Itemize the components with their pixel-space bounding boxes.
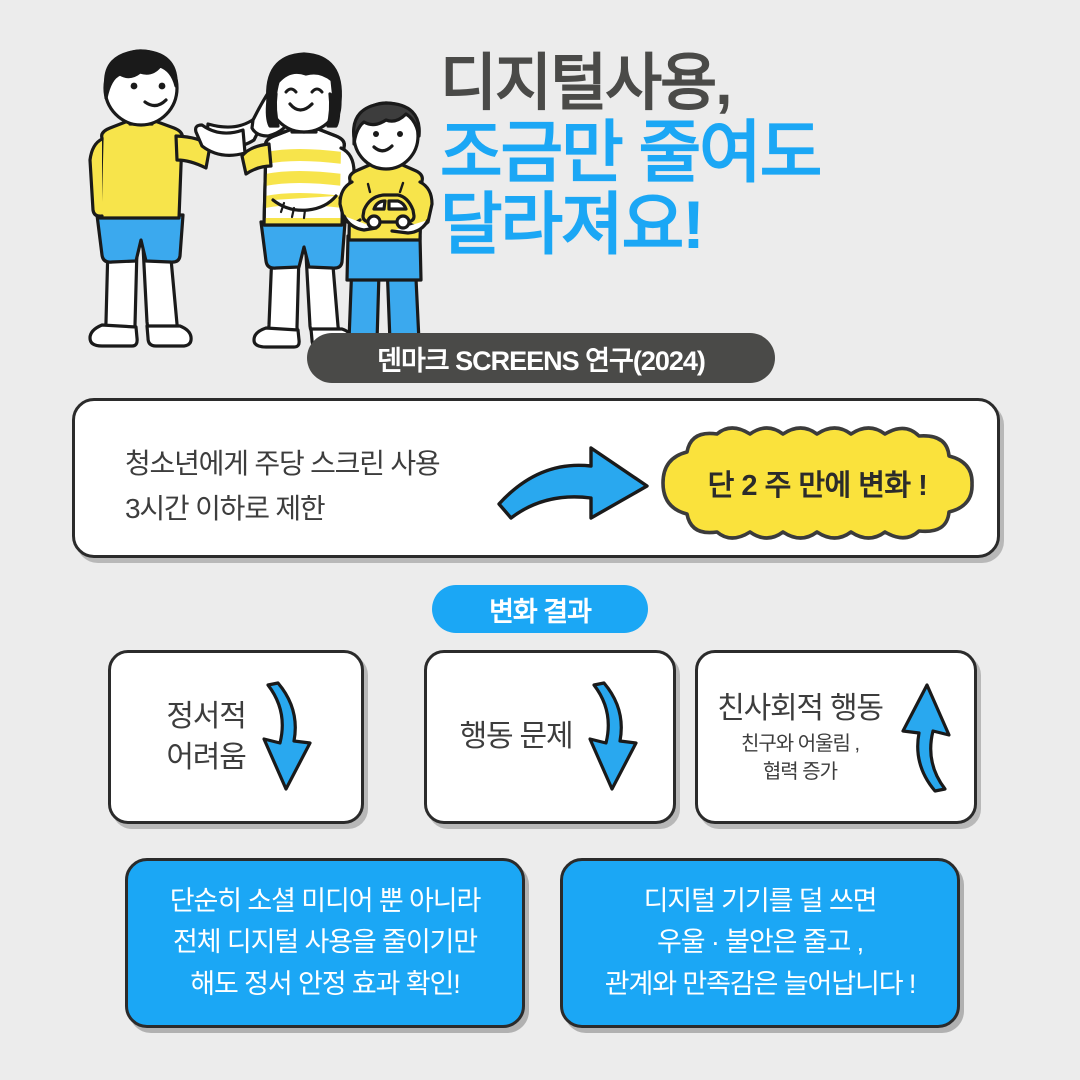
screen-limit-text: 청소년에게 주당 스크린 사용 3시간 이하로 제한 [125,441,545,532]
headline-line-2: 조금만 줄여도 [440,119,1040,188]
curved-right-arrow-icon [495,438,670,528]
children-illustration [40,40,460,360]
curved-up-arrow-icon [889,677,961,797]
curved-down-arrow-svg [252,677,324,797]
curved-down-arrow-svg [578,677,650,797]
change-result-bubble: 단 2 주 만에 변화 ! [655,424,980,542]
study-source-badge: 덴마크 SCREENS 연구(2024) [307,333,775,383]
conclusion-right-text: 디지털 기기를 덜 쓰면 우울 · 불안은 줄고 , 관계와 만족감은 늘어납니… [605,881,916,1004]
page-title: 디지털사용, 조금만 줄여도 달라져요! [440,52,1040,260]
headline-line-1: 디지털사용, [440,52,1040,115]
conclusion-box-left: 단순히 소셜 미디어 뿐 아니라 전체 디지털 사용을 줄이기만 해도 정서 안… [125,858,525,1028]
change-result-label: 단 2 주 만에 변화 ! [655,424,980,542]
screen-limit-line-2: 3시간 이하로 제한 [125,486,545,531]
result-card-sub-line-1: 친구와 어울림 , [741,730,859,758]
study-source-label: 덴마크 SCREENS 연구(2024) [377,339,705,378]
result-card-title-line-1: 정서적 [166,696,245,737]
headline-line-3: 달라져요! [440,191,1040,260]
result-card-title-line-2: 어려움 [166,737,245,778]
conclusion-left-text: 단순히 소셜 미디어 뿐 아니라 전체 디지털 사용을 줄이기만 해도 정서 안… [170,881,481,1004]
result-card-sub-line-2: 협력 증가 [763,758,837,786]
result-card-title-line-1: 친사회적 행동 [717,688,883,729]
result-card-emotional-difficulty: 정서적 어려움 [108,650,364,824]
screen-limit-line-1: 청소년에게 주당 스크린 사용 [125,441,545,486]
result-section-label: 변화 결과 [489,590,591,629]
result-card-behavior-problem: 행동 문제 [424,650,676,824]
conclusion-box-right: 디지털 기기를 덜 쓰면 우울 · 불안은 줄고 , 관계와 만족감은 늘어납니… [560,858,960,1028]
curved-right-arrow-svg [495,438,670,528]
curved-up-arrow-svg [889,677,961,797]
result-card-title-line-1: 행동 문제 [460,716,573,757]
result-section-pill: 변화 결과 [432,585,648,633]
children-illustration-svg [40,40,460,360]
curved-down-arrow-icon [252,677,324,797]
curved-down-arrow-icon [578,677,650,797]
result-card-prosocial-behavior: 친사회적 행동 친구와 어울림 , 협력 증가 [695,650,977,824]
